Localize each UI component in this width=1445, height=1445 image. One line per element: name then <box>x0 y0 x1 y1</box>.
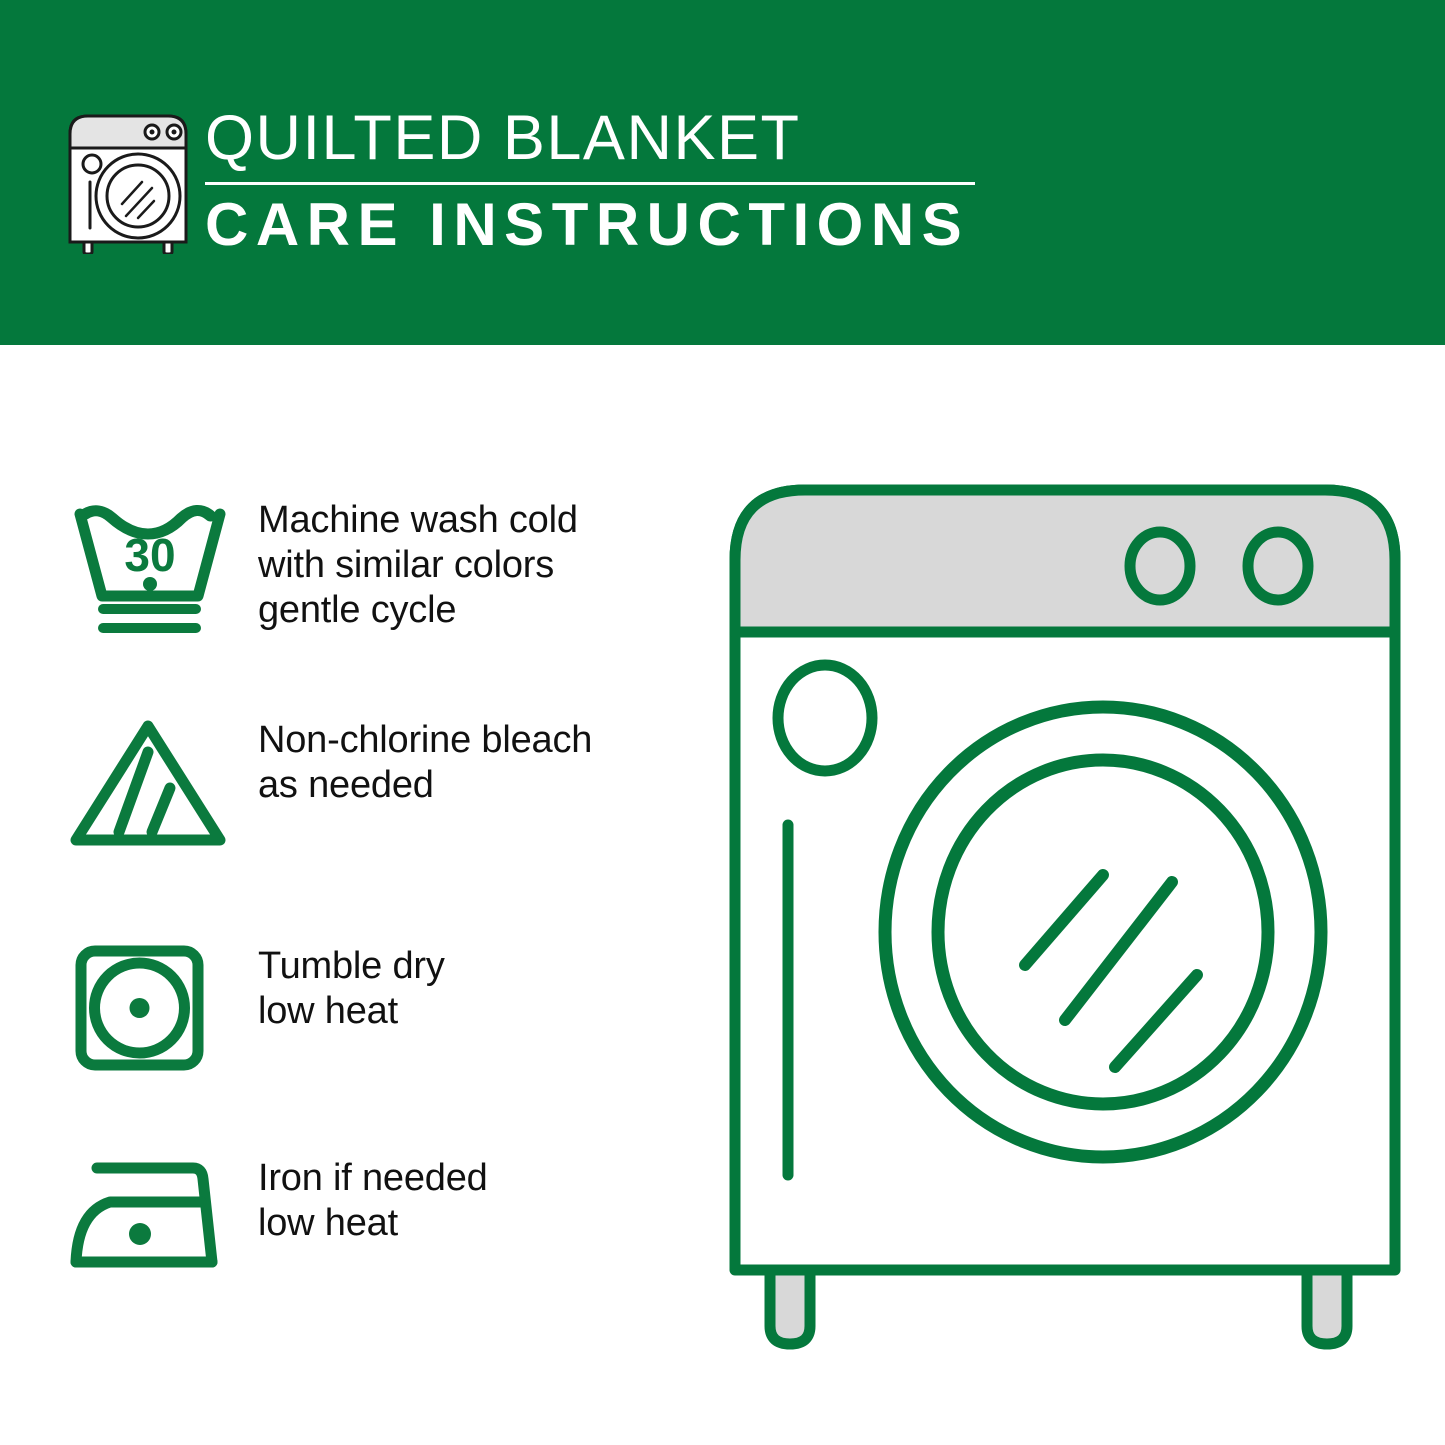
care-text-wash: Machine wash cold with similar colors ge… <box>242 492 578 633</box>
care-text-bleach: Non-chlorine bleach as needed <box>242 712 592 808</box>
care-text-line: Machine wash cold <box>258 498 578 543</box>
page-subtitle: CARE INSTRUCTIONS <box>205 189 995 261</box>
header-band: QUILTED BLANKET CARE INSTRUCTIONS <box>0 0 1445 345</box>
non-chlorine-bleach-triangle-icon <box>62 712 242 852</box>
care-text-line: low heat <box>258 1201 488 1246</box>
wash-temperature-label: 30 <box>124 529 175 581</box>
iron-low-heat-icon <box>62 1150 242 1280</box>
care-text-line: low heat <box>258 989 445 1034</box>
care-text-line: as needed <box>258 763 592 808</box>
care-text-line: with similar colors <box>258 543 578 588</box>
washing-machine-icon <box>62 104 194 254</box>
title-divider <box>205 182 975 185</box>
care-text-iron: Iron if needed low heat <box>242 1150 488 1246</box>
page-title: QUILTED BLANKET <box>205 100 995 176</box>
care-text-line: Non-chlorine bleach <box>258 718 592 763</box>
wash-tub-30-icon: 30 <box>62 492 242 640</box>
header-titles: QUILTED BLANKET CARE INSTRUCTIONS <box>205 100 995 261</box>
care-text-line: Tumble dry <box>258 944 445 989</box>
care-row-tumble-dry: Tumble dry low heat <box>62 938 682 1078</box>
care-row-wash: 30 Machine wash cold with similar colors… <box>62 492 682 640</box>
care-text-line: gentle cycle <box>258 588 578 633</box>
care-instructions-infographic: QUILTED BLANKET CARE INSTRUCTIONS 30 Mac… <box>0 0 1445 1445</box>
care-text-line: Iron if needed <box>258 1156 488 1201</box>
care-row-bleach: Non-chlorine bleach as needed <box>62 712 682 852</box>
tumble-dry-low-icon <box>62 938 242 1078</box>
care-text-tumble-dry: Tumble dry low heat <box>242 938 445 1034</box>
care-row-iron: Iron if needed low heat <box>62 1150 682 1280</box>
washing-machine-illustration <box>715 470 1415 1360</box>
